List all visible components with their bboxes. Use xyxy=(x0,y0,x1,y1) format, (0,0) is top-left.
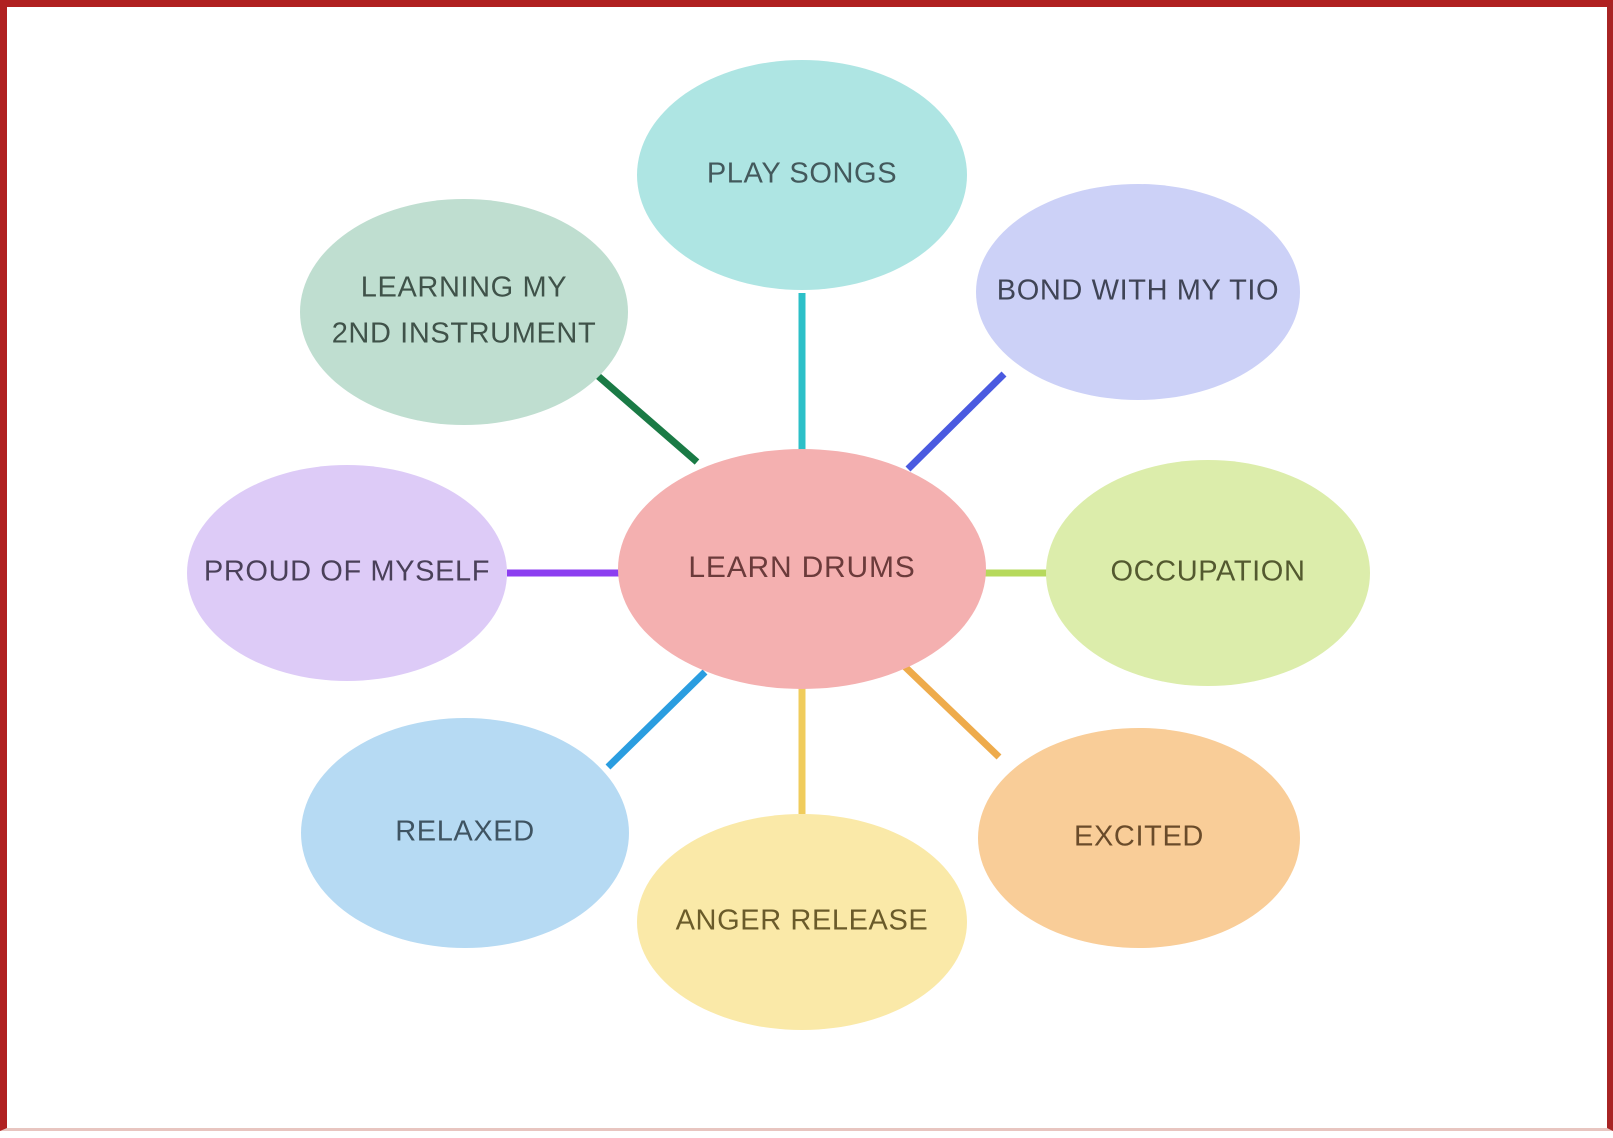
branch-node-relaxed[interactable]: RELAXED xyxy=(301,718,629,948)
connector-excited xyxy=(900,662,999,757)
branch-node-occupation[interactable]: OCCUPATION xyxy=(1046,460,1370,686)
branch-label-play-songs: PLAY SONGS xyxy=(707,158,897,190)
center-node[interactable]: LEARN DRUMS xyxy=(618,449,986,689)
branch-node-play-songs[interactable]: PLAY SONGS xyxy=(637,60,967,290)
branch-label-learning-my-2nd-instrument: LEARNING MY xyxy=(361,272,567,304)
diagram-frame: PLAY SONGSBOND WITH MY TIOOCCUPATIONEXCI… xyxy=(0,0,1613,1131)
branch-node-anger-release[interactable]: ANGER RELEASE xyxy=(637,814,967,1030)
branch-node-learning-my-2nd-instrument[interactable]: LEARNING MY2ND INSTRUMENT xyxy=(300,199,628,425)
connector-relaxed xyxy=(608,672,705,767)
branch-label-proud-of-myself: PROUD OF MYSELF xyxy=(204,556,490,588)
mind-map-canvas: PLAY SONGSBOND WITH MY TIOOCCUPATIONEXCI… xyxy=(7,7,1613,1138)
branch-label-bond-with-my-tio: BOND WITH MY TIO xyxy=(997,275,1279,307)
connector-bond-with-my-tio xyxy=(908,374,1004,469)
branch-node-bond-with-my-tio[interactable]: BOND WITH MY TIO xyxy=(976,184,1300,400)
connector-learning-my-2nd-instrument xyxy=(590,369,697,462)
branch-label-anger-release: ANGER RELEASE xyxy=(676,905,929,937)
center-label: LEARN DRUMS xyxy=(688,551,915,584)
branch-label-relaxed: RELAXED xyxy=(395,816,535,848)
branch-node-proud-of-myself[interactable]: PROUD OF MYSELF xyxy=(187,465,507,681)
branch-node-excited[interactable]: EXCITED xyxy=(978,728,1300,948)
branch-ellipse-learning-my-2nd-instrument[interactable] xyxy=(300,199,628,425)
branch-label-occupation: OCCUPATION xyxy=(1110,556,1305,588)
branch-label-learning-my-2nd-instrument: 2ND INSTRUMENT xyxy=(332,318,597,350)
branch-label-excited: EXCITED xyxy=(1074,821,1204,853)
center-node-layer: LEARN DRUMS xyxy=(618,449,986,689)
